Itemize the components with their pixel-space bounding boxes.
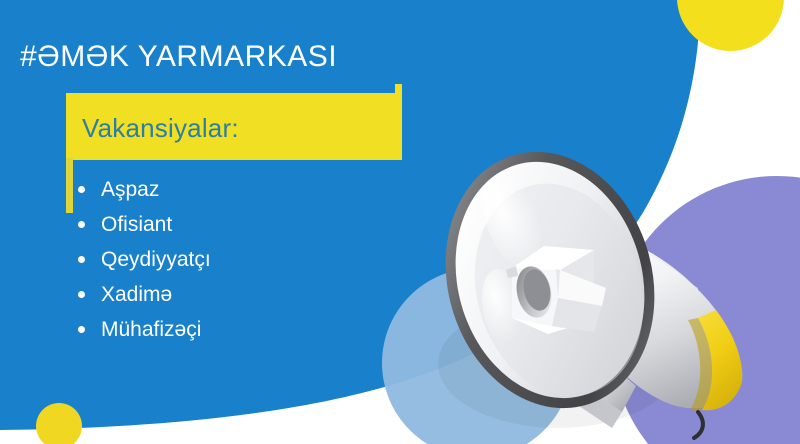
- vacancy-label: Ofisiant: [101, 213, 172, 237]
- bullet-icon: [78, 326, 85, 333]
- bullet-icon: [78, 256, 85, 263]
- banner-vertical-rail: [66, 158, 73, 213]
- vacancy-label: Xadimə: [101, 283, 172, 307]
- list-item: Mühafizəçi: [78, 312, 211, 347]
- list-item: Xadimə: [78, 277, 211, 312]
- vacancy-label: Mühafizəçi: [101, 318, 201, 342]
- poster-canvas: #ƏMƏK YARMARKASI Vakansiyalar: Aşpaz Ofi…: [0, 0, 800, 444]
- bullet-icon: [78, 221, 85, 228]
- bullet-icon: [78, 186, 85, 193]
- banner-tab-accent: [395, 84, 402, 160]
- vacancy-list: Aşpaz Ofisiant Qeydiyyatçı Xadimə Mühafi…: [78, 172, 211, 347]
- megaphone-icon: [398, 120, 800, 444]
- banner-label: Vakansiyalar:: [82, 113, 239, 144]
- list-item: Ofisiant: [78, 207, 211, 242]
- bullet-icon: [78, 291, 85, 298]
- banner-background: Vakansiyalar:: [66, 93, 395, 160]
- list-item: Qeydiyyatçı: [78, 242, 211, 277]
- vacancy-label: Qeydiyyatçı: [101, 248, 211, 272]
- vacancies-banner: Vakansiyalar:: [66, 84, 402, 160]
- list-item: Aşpaz: [78, 172, 211, 207]
- page-title: #ƏMƏK YARMARKASI: [20, 40, 337, 74]
- vacancy-label: Aşpaz: [101, 178, 159, 202]
- yellow-circle-decor-bottom: [36, 403, 82, 444]
